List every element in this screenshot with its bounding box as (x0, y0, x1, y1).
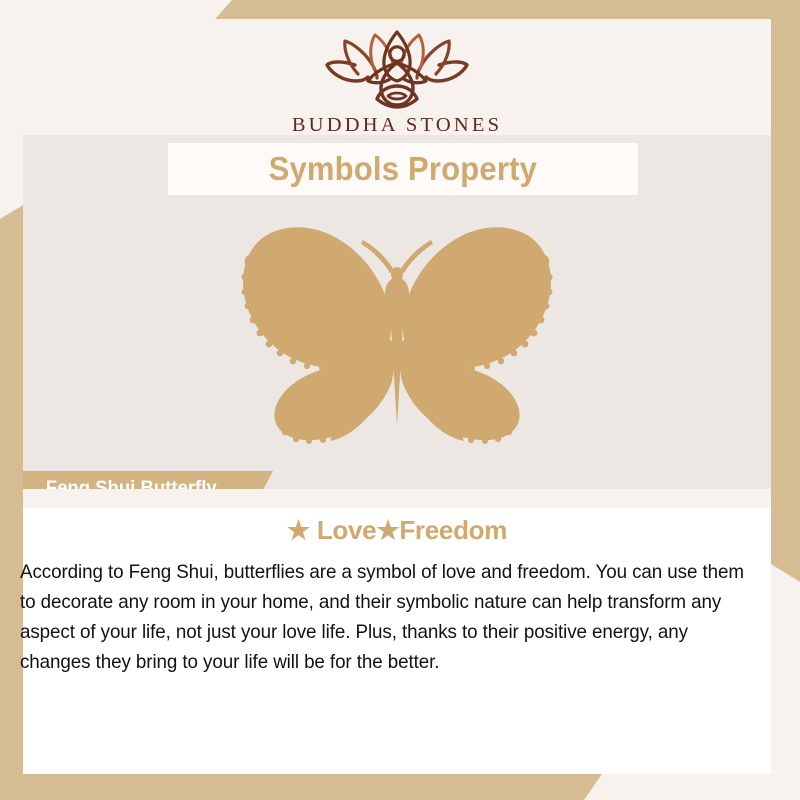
page-title: Symbols Property (269, 150, 537, 188)
brand-logo: BUDDHA STONES (23, 19, 771, 139)
frame-band-left (0, 205, 23, 800)
brand-wordmark: BUDDHA STONES (292, 114, 502, 137)
keywords-heading: ★ Love★Freedom (23, 515, 771, 546)
frame-band-bottom (0, 774, 602, 800)
butterfly-icon (217, 220, 577, 448)
lotus-meditation-icon (322, 29, 472, 113)
infographic-page: BUDDHA STONES Symbols Property (0, 0, 800, 800)
butterfly-illustration-wrap (23, 219, 771, 449)
frame-band-right (771, 0, 800, 582)
content-panel: BUDDHA STONES Symbols Property (23, 19, 771, 774)
body-paragraph: According to Feng Shui, butterflies are … (20, 557, 763, 677)
frame-band-top (215, 0, 800, 19)
title-banner: Symbols Property (168, 143, 638, 195)
text-section: ★ Love★Freedom According to Feng Shui, b… (23, 489, 771, 774)
